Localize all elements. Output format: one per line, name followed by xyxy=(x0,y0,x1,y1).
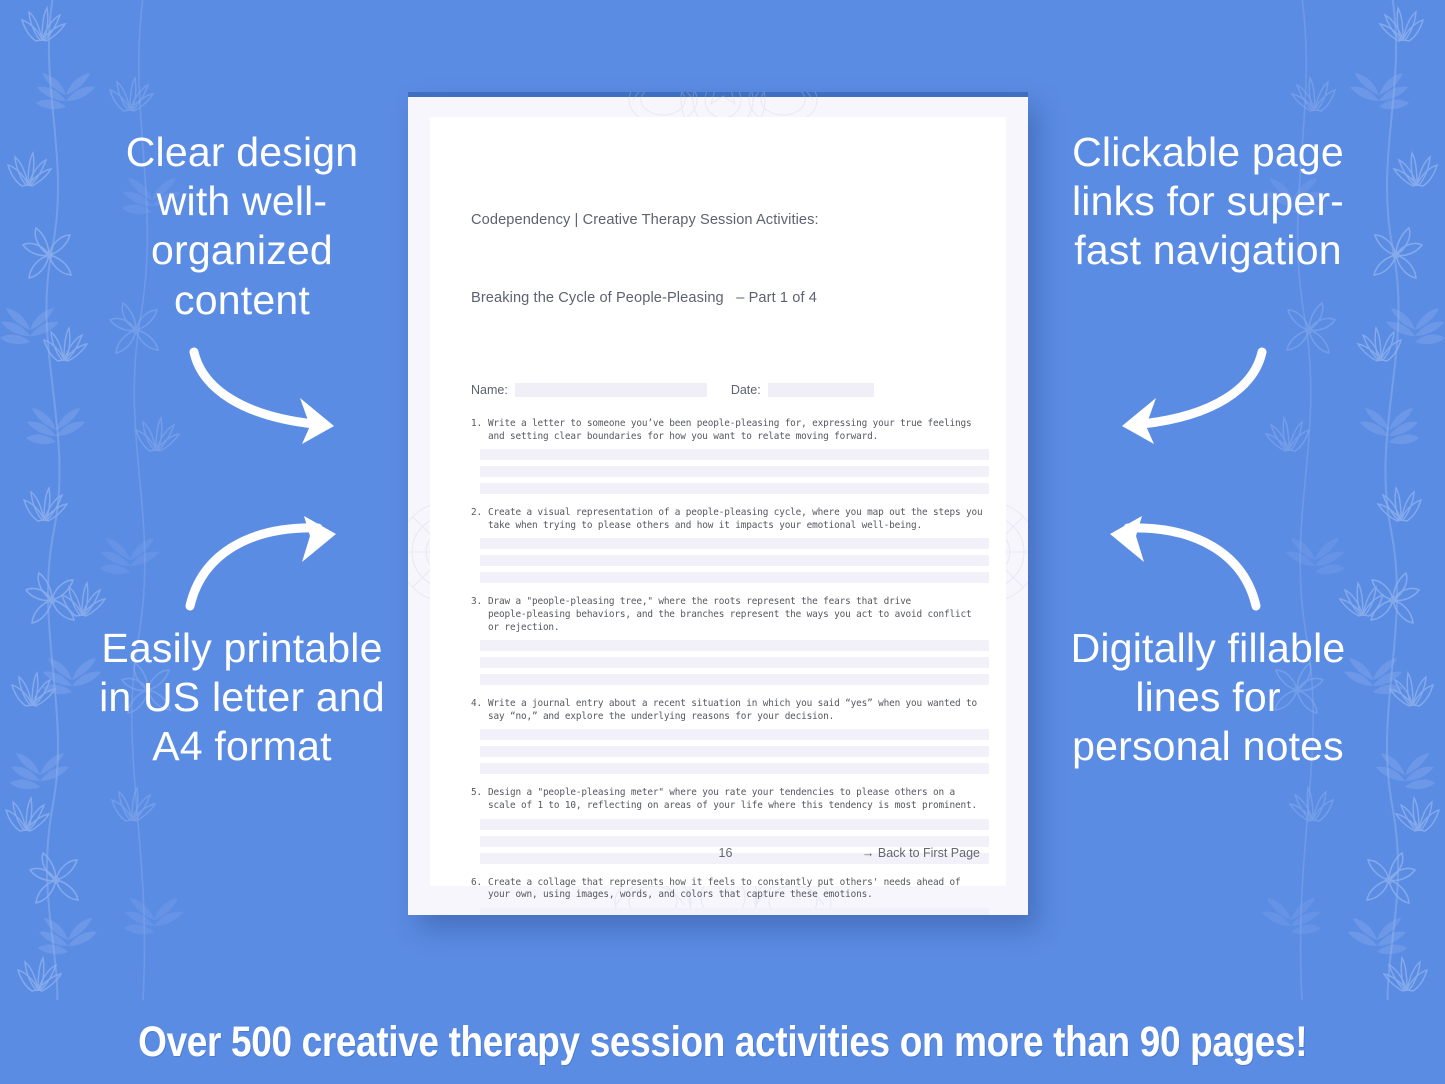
writing-line[interactable] xyxy=(480,908,989,915)
name-date-row: Name: Date: xyxy=(471,383,983,397)
activity-item: 2.Create a visual representation of a pe… xyxy=(471,507,983,583)
worksheet-title-line-1: Codependency | Creative Therapy Session … xyxy=(471,207,983,233)
writing-line[interactable] xyxy=(480,729,989,740)
activity-text: Create a visual representation of a peop… xyxy=(488,507,983,532)
activity-prompt-row: 1.Write a letter to someone you’ve been … xyxy=(471,418,983,443)
page-top-accent-bar xyxy=(408,92,1028,97)
activity-writing-lines xyxy=(480,640,983,685)
activity-writing-lines xyxy=(480,908,983,915)
date-input[interactable] xyxy=(768,383,874,397)
name-label: Name: xyxy=(471,383,508,397)
activity-item: 1.Write a letter to someone you’ve been … xyxy=(471,418,983,494)
activity-number: 5. xyxy=(471,787,488,800)
date-label: Date: xyxy=(731,383,761,397)
promo-text-bottom-left: Easily printable in US letter and A4 for… xyxy=(92,624,392,772)
activity-prompt-row: 2.Create a visual representation of a pe… xyxy=(471,507,983,532)
bottom-banner: Over 500 creative therapy session activi… xyxy=(0,1000,1445,1084)
writing-line[interactable] xyxy=(480,538,989,549)
activity-number: 1. xyxy=(471,418,488,431)
activity-number: 4. xyxy=(471,698,488,711)
promo-text-top-right: Clickable page links for super-fast navi… xyxy=(1053,128,1363,276)
worksheet-title: Codependency | Creative Therapy Session … xyxy=(471,117,983,363)
activity-prompt-row: 3.Draw a "people-pleasing tree," where t… xyxy=(471,596,983,634)
activity-item: 6.Create a collage that represents how i… xyxy=(471,877,983,915)
activity-number: 6. xyxy=(471,877,488,890)
bottom-banner-text: Over 500 creative therapy session activi… xyxy=(138,1018,1307,1067)
writing-line[interactable] xyxy=(480,449,989,460)
writing-line[interactable] xyxy=(480,819,989,830)
activity-prompt-row: 6.Create a collage that represents how i… xyxy=(471,877,983,902)
promo-text-top-left: Clear design with well-organized content xyxy=(92,128,392,325)
worksheet-content: Codependency | Creative Therapy Session … xyxy=(471,117,983,915)
writing-line[interactable] xyxy=(480,483,989,494)
name-input[interactable] xyxy=(515,383,707,397)
worksheet-title-line-2: Breaking the Cycle of People-Pleasing – … xyxy=(471,285,983,311)
writing-line[interactable] xyxy=(480,555,989,566)
writing-line[interactable] xyxy=(480,763,989,774)
activity-number: 3. xyxy=(471,596,488,609)
activity-text: Draw a "people-pleasing tree," where the… xyxy=(488,596,983,634)
promo-text-bottom-right: Digitally fillable lines for personal no… xyxy=(1053,624,1363,772)
writing-line[interactable] xyxy=(480,836,989,847)
activity-writing-lines xyxy=(480,449,983,494)
activity-item: 4.Write a journal entry about a recent s… xyxy=(471,698,983,774)
activity-prompt-row: 5.Design a "people-pleasing meter" where… xyxy=(471,787,983,812)
page-number: 16 xyxy=(719,846,733,860)
worksheet-sheet: Codependency | Creative Therapy Session … xyxy=(430,117,1006,886)
writing-line[interactable] xyxy=(480,466,989,477)
activity-number: 2. xyxy=(471,507,488,520)
activity-writing-lines xyxy=(480,538,983,583)
activity-item: 3.Draw a "people-pleasing tree," where t… xyxy=(471,596,983,685)
writing-line[interactable] xyxy=(480,674,989,685)
writing-line[interactable] xyxy=(480,657,989,668)
activity-list: 1.Write a letter to someone you’ve been … xyxy=(471,418,983,915)
back-to-first-page-link[interactable]: → Back to First Page xyxy=(862,846,980,860)
activity-prompt-row: 4.Write a journal entry about a recent s… xyxy=(471,698,983,723)
activity-text: Write a journal entry about a recent sit… xyxy=(488,698,983,723)
writing-line[interactable] xyxy=(480,572,989,583)
writing-line[interactable] xyxy=(480,640,989,651)
worksheet-footer: 16 → Back to First Page xyxy=(471,846,980,860)
page-frame: Codependency | Creative Therapy Session … xyxy=(408,92,1028,915)
activity-text: Design a "people-pleasing meter" where y… xyxy=(488,787,983,812)
activity-writing-lines xyxy=(480,729,983,774)
writing-line[interactable] xyxy=(480,746,989,757)
activity-text: Create a collage that represents how it … xyxy=(488,877,983,902)
activity-text: Write a letter to someone you’ve been pe… xyxy=(488,418,983,443)
worksheet-page-mockup[interactable]: Codependency | Creative Therapy Session … xyxy=(408,92,1028,915)
